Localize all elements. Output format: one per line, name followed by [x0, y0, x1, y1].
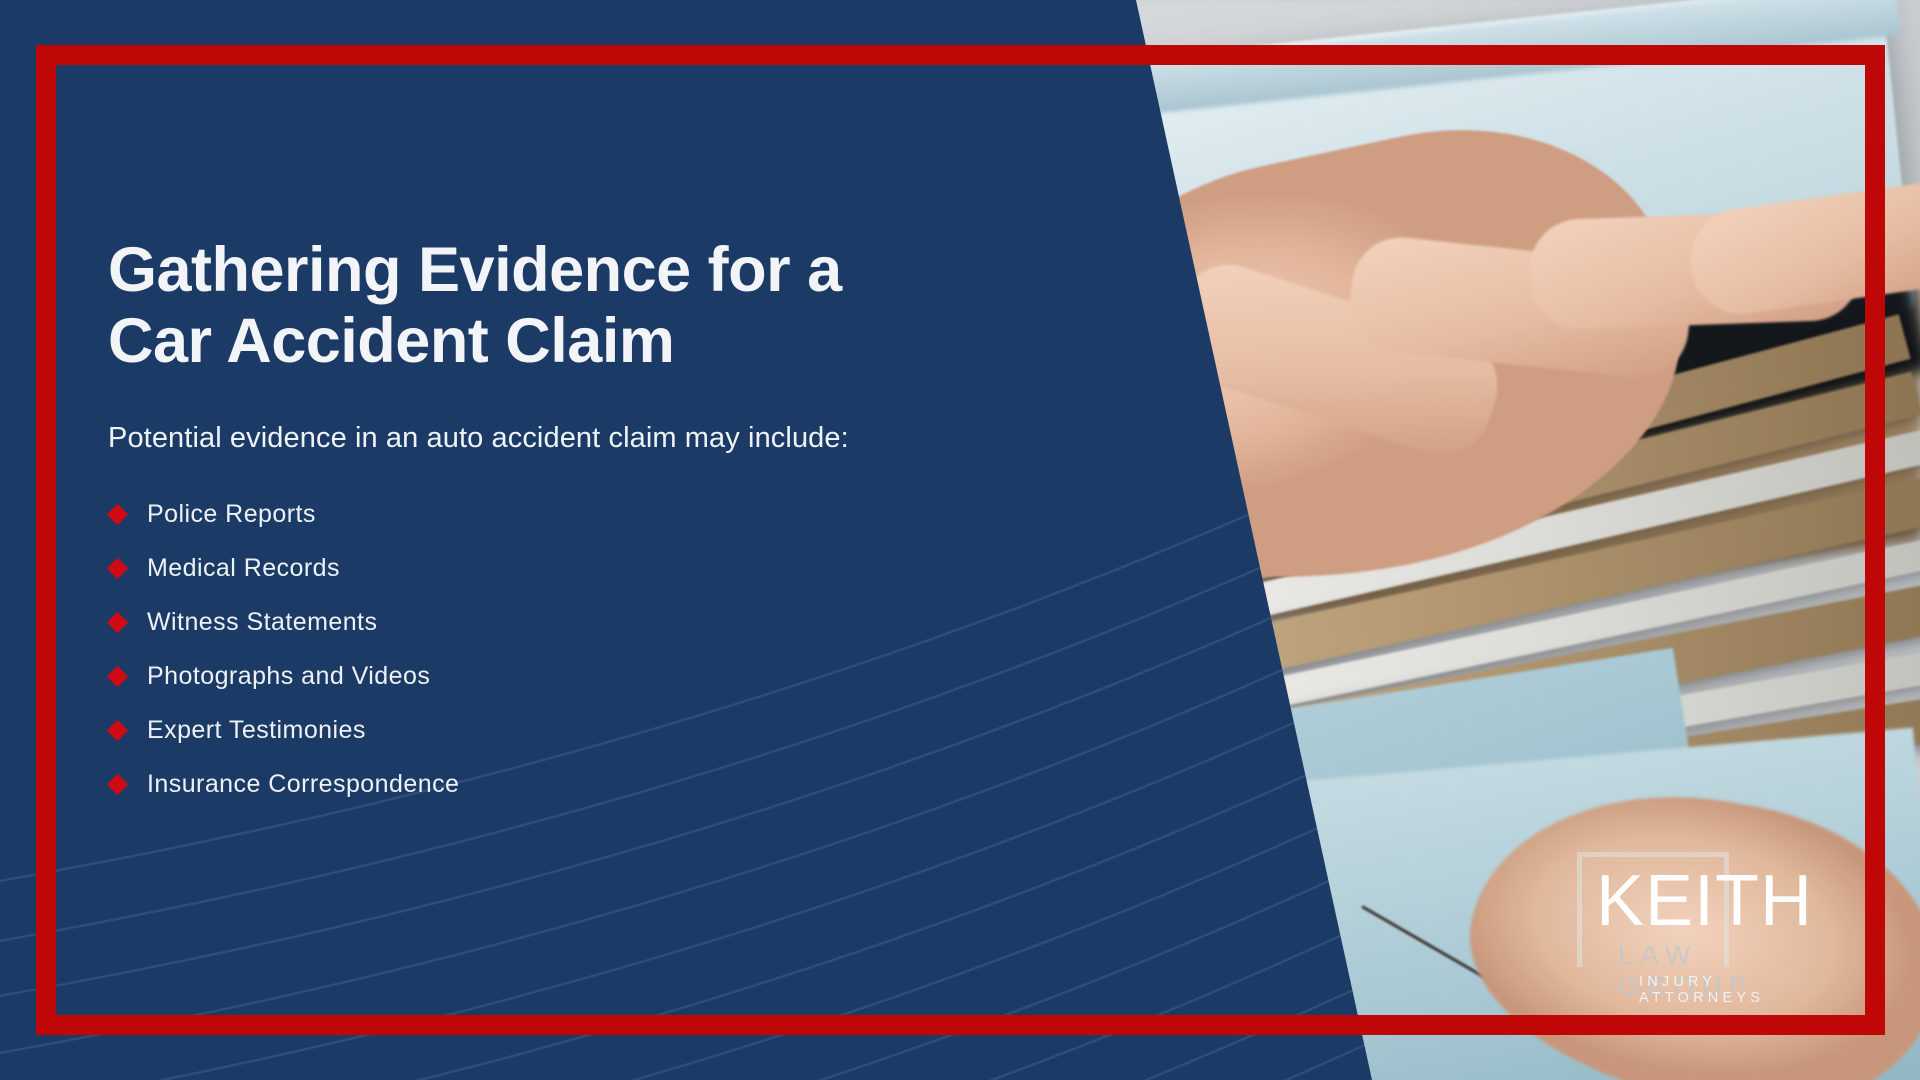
diamond-bullet-icon — [107, 665, 128, 686]
subtitle: Potential evidence in an auto accident c… — [108, 422, 1058, 455]
list-item-label: Witness Statements — [147, 608, 377, 637]
list-item-label: Insurance Correspondence — [147, 770, 459, 799]
list-item-label: Medical Records — [147, 554, 340, 583]
list-item-label: Police Reports — [147, 500, 316, 529]
page-title: Gathering Evidence for a Car Accident Cl… — [108, 235, 1058, 376]
diamond-bullet-icon — [107, 611, 128, 632]
content-block: Gathering Evidence for a Car Accident Cl… — [108, 235, 1058, 811]
list-item: Police Reports — [108, 487, 1058, 541]
list-item: Witness Statements — [108, 595, 1058, 649]
diamond-bullet-icon — [107, 503, 128, 524]
list-item: Photographs and Videos — [108, 649, 1058, 703]
diamond-bullet-icon — [107, 773, 128, 794]
diamond-bullet-icon — [107, 557, 128, 578]
diamond-bullet-icon — [107, 719, 128, 740]
list-item-label: Expert Testimonies — [147, 716, 366, 745]
promotional-graphic: Gathering Evidence for a Car Accident Cl… — [0, 0, 1920, 1080]
evidence-list: Police Reports Medical Records Witness S… — [108, 487, 1058, 811]
list-item: Expert Testimonies — [108, 703, 1058, 757]
list-item: Insurance Correspondence — [108, 757, 1058, 811]
list-item: Medical Records — [108, 541, 1058, 595]
list-item-label: Photographs and Videos — [147, 662, 430, 691]
